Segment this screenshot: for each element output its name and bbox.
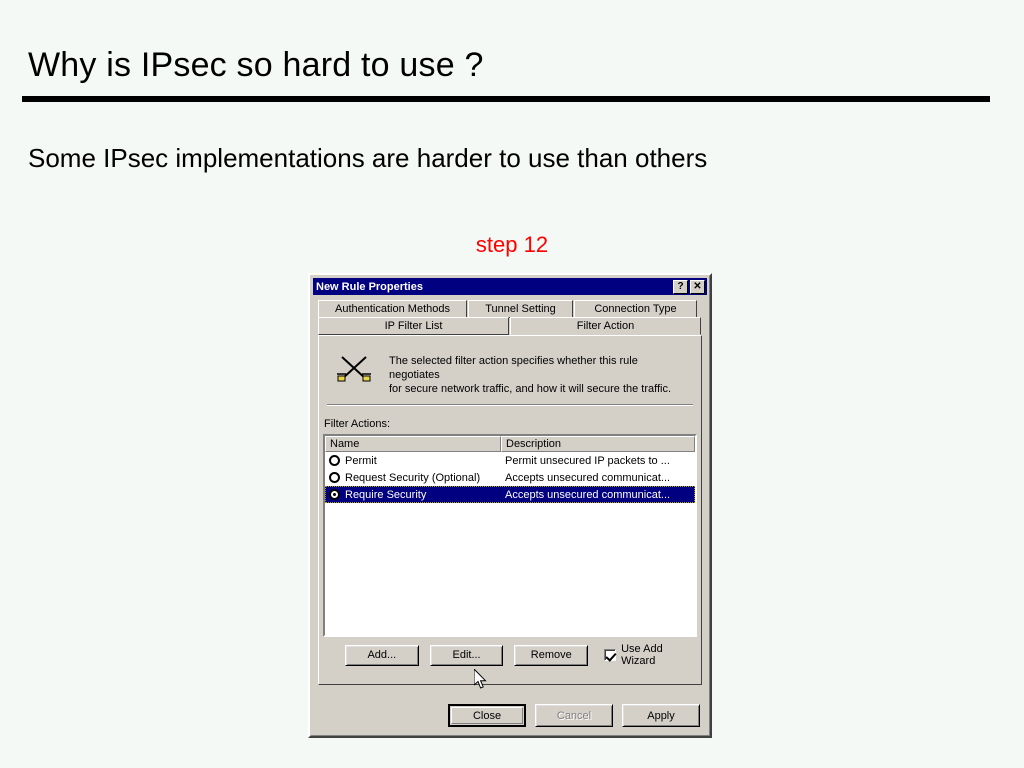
add-button[interactable]: Add... (345, 645, 419, 666)
radio-button-icon[interactable] (329, 472, 340, 483)
description-area: The selected filter action specifies whe… (333, 348, 691, 396)
table-row[interactable]: Permit Permit unsecured IP packets to ..… (325, 452, 695, 469)
tab-tunnel-setting[interactable]: Tunnel Setting (468, 300, 573, 318)
tab-row-lower: IP Filter List Filter Action (318, 317, 702, 335)
row-name-cell: Require Security (325, 489, 501, 501)
dialog-button-row: Close Cancel Apply (311, 704, 700, 727)
slide-subtitle: Some IPsec implementations are harder to… (28, 143, 707, 174)
use-add-wizard-label: Use Add Wizard (621, 643, 697, 667)
filter-action-description: Accepts unsecured communicat... (501, 489, 695, 501)
close-button-label: Close (451, 707, 523, 724)
description-line-2: for secure network traffic, and how it w… (389, 382, 691, 396)
use-add-wizard-checkbox[interactable]: Use Add Wizard (604, 643, 697, 667)
column-header-name[interactable]: Name (325, 436, 501, 452)
page-title: Why is IPsec so hard to use ? (28, 46, 484, 85)
column-header-description[interactable]: Description (501, 436, 695, 452)
action-button-row: Add... Edit... Remove Use Add Wizard (323, 644, 697, 666)
crossed-swords-icon (333, 348, 375, 390)
remove-button[interactable]: Remove (514, 645, 588, 666)
new-rule-properties-dialog: New Rule Properties ? ✕ Authentication M… (308, 273, 712, 738)
presentation-slide: Why is IPsec so hard to use ? Some IPsec… (0, 0, 1024, 768)
dialog-title-text: New Rule Properties (313, 281, 673, 293)
help-icon[interactable]: ? (673, 280, 688, 294)
step-label: step 12 (0, 232, 1024, 258)
checkbox-checked-icon[interactable] (604, 649, 616, 661)
description-line-1: The selected filter action specifies whe… (389, 354, 691, 382)
horizontal-separator (327, 404, 693, 406)
filter-action-tab-panel: The selected filter action specifies whe… (318, 335, 702, 685)
table-row[interactable]: Request Security (Optional) Accepts unse… (325, 469, 695, 486)
table-row-selected[interactable]: Require Security Accepts unsecured commu… (325, 486, 695, 503)
row-name-cell: Permit (325, 455, 501, 467)
dialog-inner-frame: New Rule Properties ? ✕ Authentication M… (310, 275, 710, 736)
description-text: The selected filter action specifies whe… (389, 348, 691, 396)
close-icon[interactable]: ✕ (690, 280, 705, 294)
close-button-primary[interactable]: Close (448, 704, 526, 727)
tab-ip-filter-list[interactable]: IP Filter List (318, 317, 509, 335)
filter-actions-listview[interactable]: Name Description Permit Permit unsecured… (323, 434, 697, 637)
filter-action-name: Permit (345, 455, 377, 467)
filter-action-name: Request Security (Optional) (345, 472, 480, 484)
dialog-titlebar[interactable]: New Rule Properties ? ✕ (313, 278, 707, 295)
listview-header: Name Description (325, 436, 695, 452)
tab-filter-action[interactable]: Filter Action (510, 317, 701, 335)
tab-authentication-methods[interactable]: Authentication Methods (318, 300, 467, 318)
radio-button-icon-selected[interactable] (329, 489, 340, 500)
filter-action-name: Require Security (345, 489, 426, 501)
cancel-button: Cancel (535, 704, 613, 727)
tab-row-upper: Authentication Methods Tunnel Setting Co… (318, 300, 702, 318)
title-underline-rule (22, 96, 990, 102)
tab-connection-type[interactable]: Connection Type (574, 300, 697, 318)
tab-strip: Authentication Methods Tunnel Setting Co… (318, 300, 702, 336)
filter-action-description: Permit unsecured IP packets to ... (501, 455, 695, 467)
apply-button[interactable]: Apply (622, 704, 700, 727)
edit-button[interactable]: Edit... (430, 645, 504, 666)
row-name-cell: Request Security (Optional) (325, 472, 501, 484)
radio-button-icon[interactable] (329, 455, 340, 466)
filter-action-description: Accepts unsecured communicat... (501, 472, 695, 484)
filter-actions-label: Filter Actions: (324, 418, 390, 430)
